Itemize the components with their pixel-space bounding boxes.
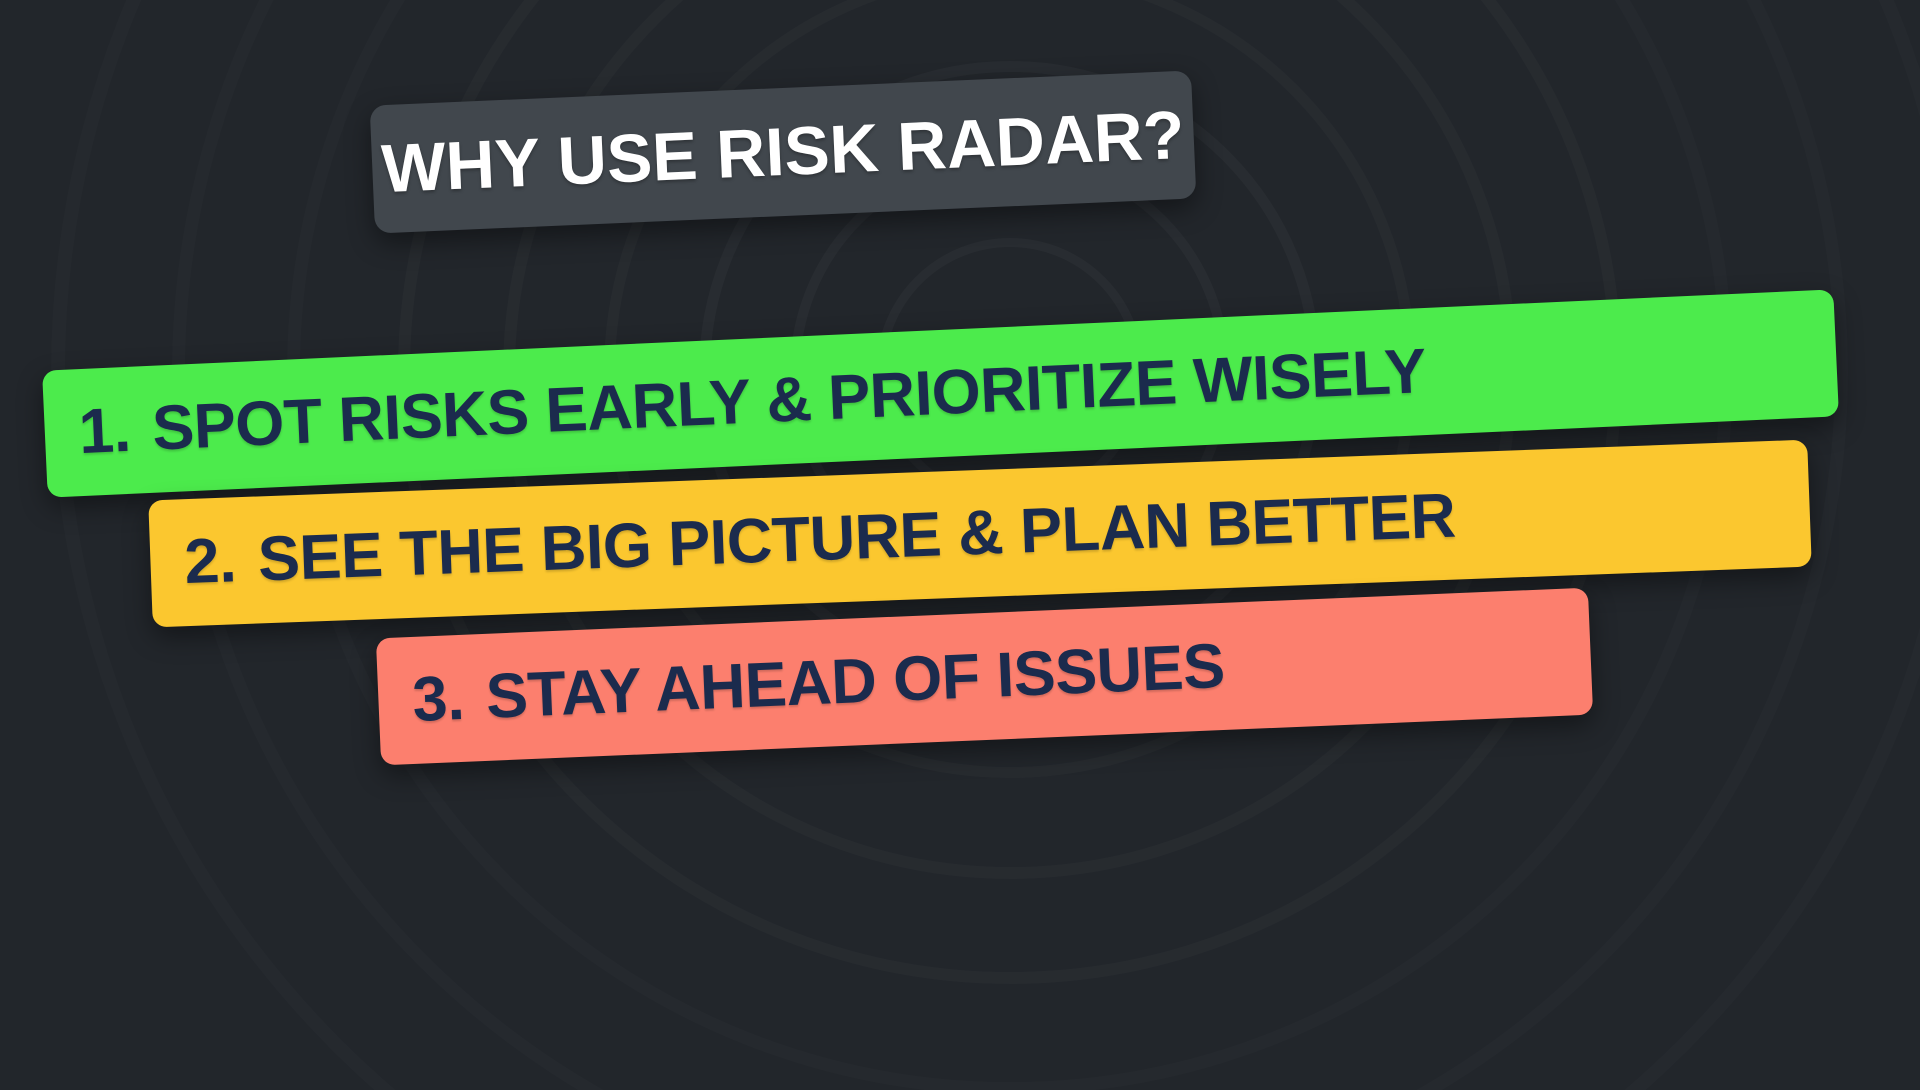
page-title: WHY USE RISK RADAR? bbox=[380, 101, 1186, 203]
benefit-label-1: SPOT RISKS EARLY & PRIORITIZE WISELY bbox=[151, 340, 1427, 461]
page-title-banner: WHY USE RISK RADAR? bbox=[370, 70, 1197, 233]
benefit-label-3: STAY AHEAD OF ISSUES bbox=[485, 635, 1226, 729]
benefit-number-1: 1. bbox=[77, 399, 131, 464]
benefit-banner-3[interactable]: 3. STAY AHEAD OF ISSUES bbox=[376, 588, 1593, 766]
slide-canvas: WHY USE RISK RADAR? 1. SPOT RISKS EARLY … bbox=[0, 0, 1920, 1090]
benefit-number-3: 3. bbox=[411, 667, 465, 732]
benefit-label-2: SEE THE BIG PICTURE & PLAN BETTER bbox=[257, 485, 1457, 592]
benefit-number-2: 2. bbox=[183, 529, 237, 594]
